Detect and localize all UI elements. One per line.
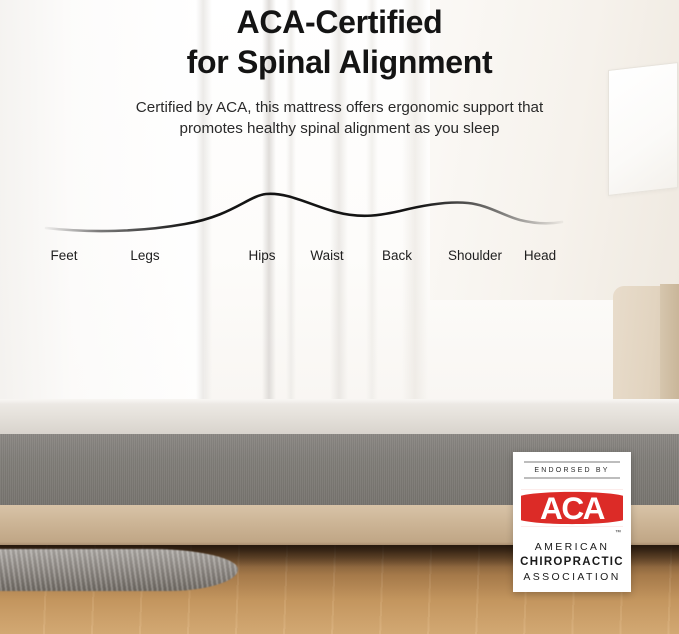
floor-rug [0, 549, 238, 591]
spine-curve-line [46, 194, 562, 231]
spinal-alignment-curve [0, 175, 679, 237]
trademark-symbol: ™ [615, 530, 621, 536]
spine-curve-svg [0, 175, 679, 237]
page-title: ACA-Certified for Spinal Alignment [0, 0, 679, 82]
aca-logo-svg: ACA [521, 485, 623, 531]
endorsed-by-row: ENDORSED BY [521, 461, 623, 479]
spine-label-legs: Legs [130, 248, 159, 263]
headline-line-1: ACA-Certified [0, 2, 679, 42]
svg-text:ACA: ACA [540, 490, 605, 526]
aca-association-name: AMERICAN CHIROPRACTIC ASSOCIATION [520, 540, 624, 585]
aca-name-line-3: ASSOCIATION [520, 570, 624, 585]
spine-label-waist: Waist [310, 248, 343, 263]
headline-line-2: for Spinal Alignment [0, 42, 679, 82]
spine-label-feet: Feet [50, 248, 77, 263]
endorsed-by-label: ENDORSED BY [534, 465, 609, 475]
promo-image-scene: ACA-Certified for Spinal Alignment Certi… [0, 0, 679, 634]
mattress-top-layer [0, 399, 679, 436]
spine-label-row: FeetLegsHipsWaistBackShoulderHead [0, 248, 679, 270]
spine-label-back: Back [382, 248, 412, 263]
sleeping-person [0, 280, 679, 410]
spine-label-head: Head [524, 248, 556, 263]
spine-label-shoulder: Shoulder [448, 248, 502, 263]
spine-label-hips: Hips [248, 248, 275, 263]
aca-name-line-2: CHIROPRACTIC [520, 555, 624, 570]
badge-rule-top [524, 461, 620, 463]
aca-logo: ACA ™ [521, 485, 623, 531]
subtitle-line-2: promotes healthy spinal alignment as you… [0, 118, 679, 139]
page-subtitle: Certified by ACA, this mattress offers e… [0, 97, 679, 139]
badge-rule-bottom [524, 477, 620, 479]
aca-name-line-1: AMERICAN [520, 540, 624, 555]
aca-endorsement-badge: ENDORSED BY ACA ™ AMERICAN CHIROPRACTIC … [513, 452, 631, 592]
subtitle-line-1: Certified by ACA, this mattress offers e… [0, 97, 679, 118]
